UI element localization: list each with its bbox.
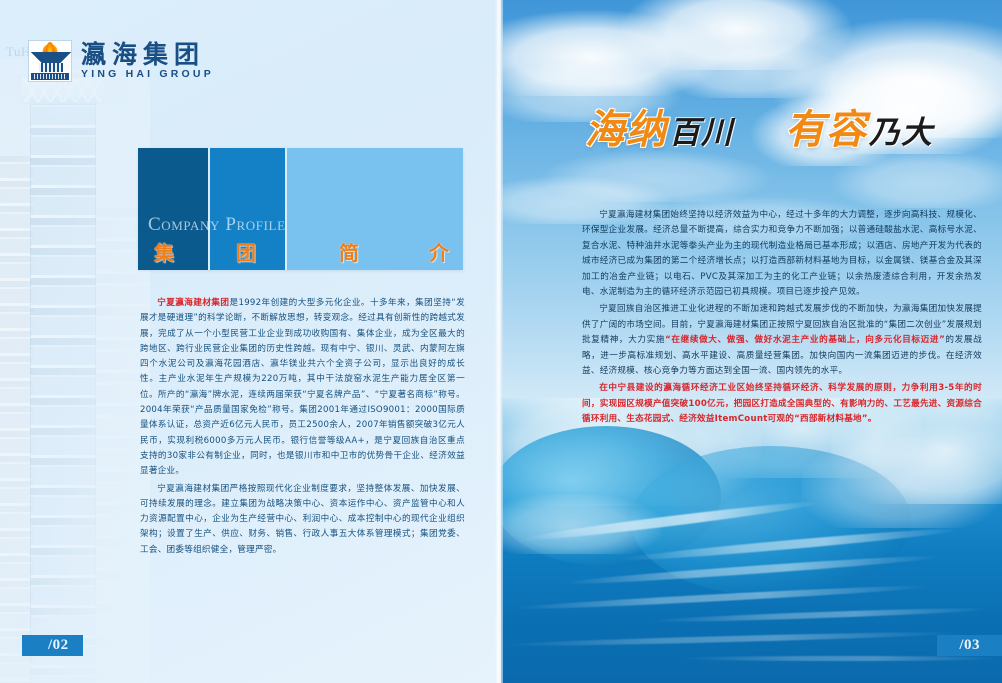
banner-panel-mid: 团 xyxy=(210,148,285,270)
left-page: TuHu.com 瀛海集团 YING HAI GROUP 集 团 简 介 xyxy=(0,0,501,683)
brochure-spread: TuHu.com 瀛海集团 YING HAI GROUP 集 团 简 介 xyxy=(0,0,1002,683)
left-paragraph-2: 宁夏瀛海建材集团严格按照现代化企业制度要求，坚持整体发展、加快发展、可持续发展的… xyxy=(140,482,465,558)
calligraphy-2-orange: 有容 xyxy=(785,110,867,150)
banner-panel-light: 简 介 xyxy=(287,148,463,270)
banner-char-4: 介 xyxy=(429,237,449,266)
right-paragraph-1: 宁夏瀛海建材集团始终坚持以经济效益为中心，经过十多年的大力调整，逐步向高科技、规… xyxy=(582,208,982,300)
right-paragraph-3: 在中宁县建设的瀛海循环经济工业区始终坚持循环经济、科学发展的原则，力争利用3-5… xyxy=(582,381,982,427)
building-photograph xyxy=(0,58,150,683)
ocean-wave-photograph xyxy=(501,398,1002,683)
calligraphy-1-orange: 海纳 xyxy=(585,110,667,150)
calligraphy-phrase-2: 有容 乃大 xyxy=(785,110,933,150)
banner-char-1: 集 xyxy=(154,237,174,266)
mountain-flame-emblem-icon xyxy=(28,40,72,82)
left-paragraph-1-text: 是1992年创建的大型多元化企业。十多年来，集团坚持“发展才是硬道理”的科学论断… xyxy=(140,298,465,476)
calligraphy-1-black: 百川 xyxy=(669,118,733,149)
calligraphy-2-black: 乃大 xyxy=(869,118,933,149)
right-page-body-copy: 宁夏瀛海建材集团始终坚持以经济效益为中心，经过十多年的大力调整，逐步向高科技、规… xyxy=(582,208,982,430)
page-number-left: /02 xyxy=(22,635,83,656)
company-profile-banner: 集 团 简 介 Company Profile xyxy=(138,148,463,270)
strategy-slogan-highlight: “在继续做大、做强、做好水泥主产业的基础上，向多元化目标迈进” xyxy=(665,335,945,345)
right-paragraph-2: 宁夏回族自治区推进工业化进程的不断加速和跨越式发展步伐的不断加快，为瀛海集团加快… xyxy=(582,302,982,379)
left-paragraph-1: 宁夏瀛海建材集团是1992年创建的大型多元化企业。十多年来，集团坚持“发展才是硬… xyxy=(140,296,465,480)
logo-chinese-name: 瀛海集团 xyxy=(81,42,214,68)
banner-panel-dark: 集 xyxy=(138,148,208,270)
banner-english-title: Company Profile xyxy=(148,214,286,236)
calligraphy-phrase-1: 海纳 百川 xyxy=(585,110,733,150)
page-number-right: /03 xyxy=(937,635,1002,656)
company-name-highlight: 宁夏瀛海建材集团 xyxy=(157,298,229,308)
calligraphy-headline: 海纳 百川 有容 乃大 xyxy=(585,110,933,150)
company-logo: 瀛海集团 YING HAI GROUP xyxy=(28,40,214,82)
left-page-body-copy: 宁夏瀛海建材集团是1992年创建的大型多元化企业。十多年来，集团坚持“发展才是硬… xyxy=(140,296,465,560)
banner-char-2: 团 xyxy=(236,237,256,266)
banner-char-3: 简 xyxy=(339,237,359,266)
logo-english-name: YING HAI GROUP xyxy=(81,69,214,80)
